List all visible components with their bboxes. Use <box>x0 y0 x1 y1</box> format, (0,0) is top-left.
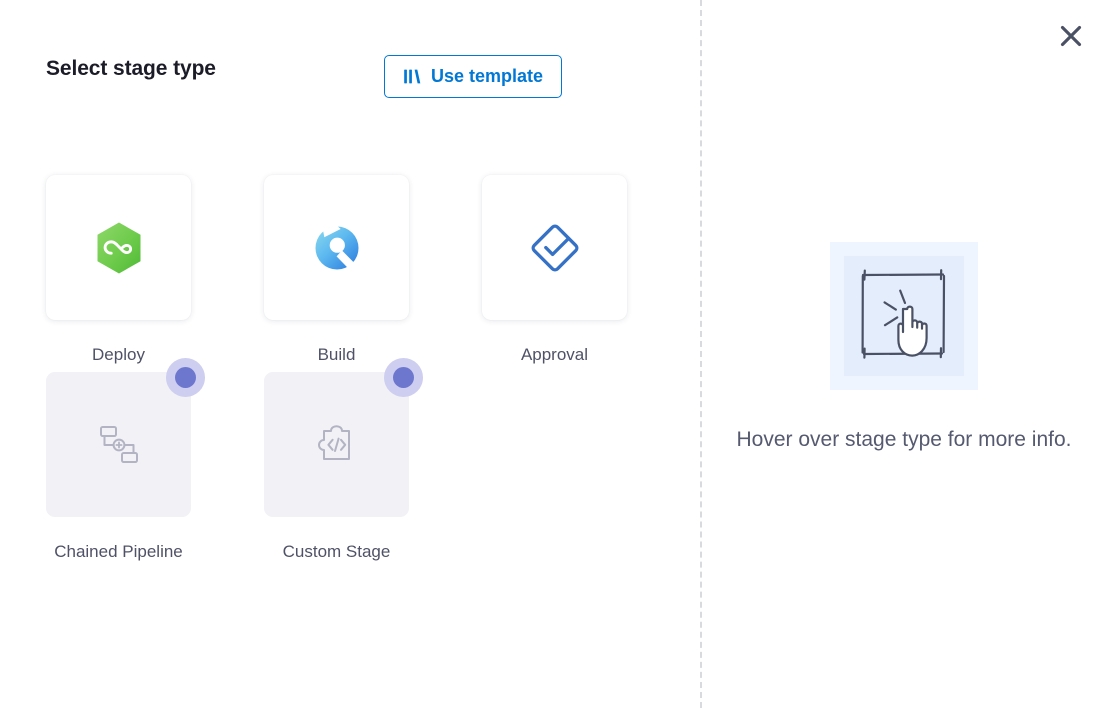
stage-option-approval[interactable]: Approval <box>482 175 627 372</box>
stage-label-chained-pipeline: Chained Pipeline <box>54 536 183 567</box>
stage-card-approval[interactable] <box>482 175 627 320</box>
hover-hint-text: Hover over stage type for more info. <box>732 424 1076 455</box>
stage-card-chained-pipeline <box>46 372 191 517</box>
stage-label-deploy: Deploy <box>92 339 145 370</box>
custom-stage-puzzle-code-icon <box>315 423 359 467</box>
chained-pipeline-nodes-icon <box>96 422 142 468</box>
stage-info-pane: Hover over stage type for more info. <box>702 0 1106 708</box>
illustration-inner-tint <box>844 256 964 376</box>
use-template-button[interactable]: Use template <box>384 55 562 98</box>
stage-option-chained-pipeline: Chained Pipeline <box>46 372 191 574</box>
stage-label-approval: Approval <box>521 339 588 370</box>
stage-type-grid: Deploy <box>46 175 627 574</box>
deploy-hexagon-infinity-icon <box>94 221 144 275</box>
approval-diamond-check-icon <box>529 222 581 274</box>
stage-card-deploy[interactable] <box>46 175 191 320</box>
stage-option-deploy[interactable]: Deploy <box>46 175 191 372</box>
hover-illustration <box>830 242 978 390</box>
stage-label-build: Build <box>318 339 356 370</box>
stage-option-custom-stage: Custom Stage <box>264 372 409 574</box>
use-template-label: Use template <box>431 66 543 87</box>
stage-selection-pane: Select stage type Use template <box>0 0 700 708</box>
build-magnifier-circle-icon <box>312 223 362 273</box>
stage-type-selector-dialog: Select stage type Use template <box>0 0 1106 708</box>
stage-card-build[interactable] <box>264 175 409 320</box>
premium-badge-custom-stage[interactable] <box>384 358 423 397</box>
template-bars-icon <box>403 67 422 86</box>
stage-label-custom-stage: Custom Stage <box>283 536 391 567</box>
stage-option-build[interactable]: Build <box>264 175 409 372</box>
stage-card-custom-stage <box>264 372 409 517</box>
dialog-header: Select stage type Use template <box>46 57 216 81</box>
premium-badge-chained-pipeline[interactable] <box>166 358 205 397</box>
page-title: Select stage type <box>46 57 216 81</box>
hand-tap-square-illustration <box>851 264 957 368</box>
